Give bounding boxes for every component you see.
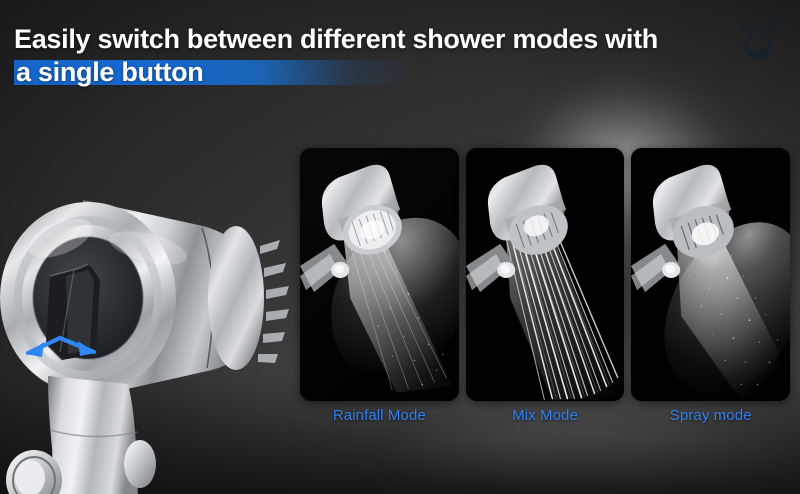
background-blurred-hose bbox=[380, 425, 800, 485]
mode-label-spray: Spray mode bbox=[631, 405, 790, 429]
mode-label-rainfall: Rainfall Mode bbox=[300, 405, 459, 429]
mode-panel-list bbox=[300, 148, 790, 401]
headline-line-1: Easily switch between different shower m… bbox=[14, 24, 674, 54]
mode-label-list: Rainfall Mode Mix Mode Spray mode bbox=[300, 405, 790, 429]
product-feature-banner: Easily switch between different shower m… bbox=[0, 0, 800, 494]
mode-panel-rainfall[interactable] bbox=[300, 148, 459, 401]
mode-label-mix: Mix Mode bbox=[466, 405, 625, 429]
headline-line-2-wrapper: a single button bbox=[14, 59, 414, 86]
water-droplet-icon bbox=[736, 10, 788, 62]
handheld-shower-head-image bbox=[0, 108, 298, 494]
mode-panel-mix[interactable] bbox=[466, 148, 625, 401]
mode-panel-spray[interactable] bbox=[631, 148, 790, 401]
headline-line-2: a single button bbox=[14, 59, 414, 86]
headline: Easily switch between different shower m… bbox=[14, 24, 674, 86]
